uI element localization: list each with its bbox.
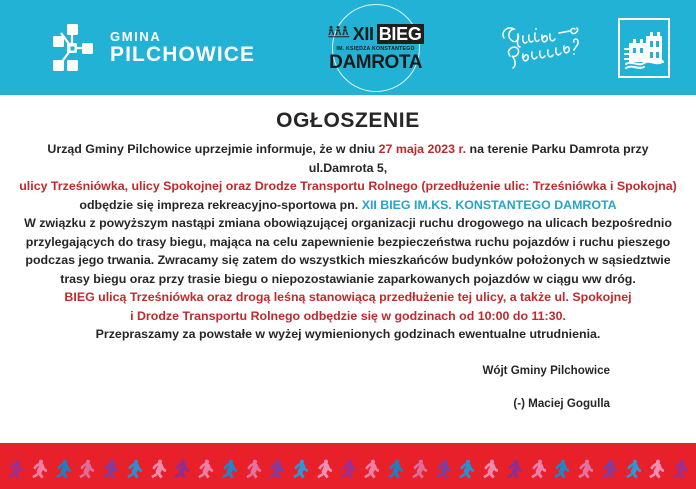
runner-silhouette-icon: [647, 451, 666, 487]
runner-silhouette-icon: [220, 451, 239, 487]
runner-silhouette-icon: [125, 451, 144, 487]
page-title: OGŁOSZENIE: [18, 109, 678, 133]
castle-crest-icon: [618, 18, 670, 78]
runner-silhouette-icon: [505, 451, 524, 487]
runner-silhouette-icon: [552, 451, 571, 487]
runner-silhouette-icon: [481, 451, 500, 487]
event-name: XII BIEG IM.KS. KONSTANTEGO DAMROTA: [362, 198, 617, 212]
announcement-poster: GMINA PILCHOWICE: [0, 0, 696, 489]
runners-icon: [328, 25, 350, 43]
header-band: GMINA PILCHOWICE: [0, 0, 696, 95]
gmina-label-line1: GMINA: [110, 30, 255, 43]
runner-silhouette-icon: [77, 451, 96, 487]
runner-silhouette-icon: [291, 451, 310, 487]
signature-role: Wójt Gminy Pilchowice: [18, 364, 610, 378]
runner-silhouette-icon: [101, 451, 120, 487]
runner-silhouette-icon: [54, 451, 73, 487]
paragraph-intro: Urząd Gminy Pilchowice uprzejmie informu…: [18, 140, 678, 214]
runner-silhouette-icon: [671, 451, 690, 487]
bieg-word: BIEG: [377, 24, 424, 44]
runner-silhouette-icon: [172, 451, 191, 487]
signature-name: (-) Maciej Gogulla: [18, 397, 610, 411]
runner-silhouette-icon: [244, 451, 263, 487]
schedule-line-1: BIEG ulicą Trześniówka oraz drogą leśną …: [64, 290, 631, 304]
intro-segment-1: Urząd Gminy Pilchowice uprzejmie informu…: [47, 142, 378, 156]
runner-silhouette-icon: [457, 451, 476, 487]
runner-silhouette-icon: [576, 451, 595, 487]
bieg-name: DAMROTA: [329, 53, 422, 72]
runner-silhouette-icon: [315, 451, 334, 487]
runner-silhouette-icon: [529, 451, 548, 487]
runner-silhouette-icon: [6, 451, 25, 487]
schedule-line-2: i Drodze Transportu Rolnego odbędzie się…: [130, 309, 566, 323]
network-nodes-icon: [48, 22, 98, 74]
paragraph-traffic-notice: W związku z powyższym nastąpi zmiana obo…: [18, 214, 678, 288]
signature-block: Wójt Gminy Pilchowice (-) Maciej Gogulla: [18, 364, 678, 412]
runner-silhouette-icon: [600, 451, 619, 487]
runner-silhouette-icon: [434, 451, 453, 487]
bieg-numeral: XII: [353, 25, 374, 43]
runner-silhouette-icon: [362, 451, 381, 487]
intro-segment-3: odbędzie się impreza rekreacyjno-sportow…: [79, 198, 361, 212]
affected-streets: ulicy Trześniówka, ulicy Spokojnej oraz …: [19, 179, 677, 193]
paragraph-schedule: BIEG ulicą Trześniówka oraz drogą leśną …: [18, 288, 678, 325]
event-date: 27 maja 2023 r.: [379, 142, 467, 156]
runner-silhouette-icon: [410, 451, 429, 487]
paragraph-apology: Przepraszamy za powstałe w wyżej wymieni…: [18, 325, 678, 344]
runner-silhouette-icon: [267, 451, 286, 487]
runner-silhouette-icon: [149, 451, 168, 487]
runner-silhouette-icon: [339, 451, 358, 487]
runner-silhouette-icon: [30, 451, 49, 487]
runner-silhouette-icon: [196, 451, 215, 487]
runner-silhouette-row: [0, 447, 696, 487]
gliwice-script-text: [496, 16, 604, 79]
logo-bieg-damrota: XIIBIEG IM. KSIĘDZA KONSTANTEGO DAMROTA: [332, 4, 420, 92]
gmina-label-line2: PILCHOWICE: [110, 44, 255, 65]
runner-silhouette-icon: [624, 451, 643, 487]
logo-powiat-gliwicki: [496, 16, 670, 79]
bieg-subtitle: IM. KSIĘDZA KONSTANTEGO: [336, 46, 414, 52]
runner-silhouette-icon: [386, 451, 405, 487]
footer-runner-strip: [0, 443, 696, 489]
logo-gmina-pilchowice: GMINA PILCHOWICE: [48, 22, 255, 74]
announcement-body: OGŁOSZENIE Urząd Gminy Pilchowice uprzej…: [0, 95, 696, 443]
